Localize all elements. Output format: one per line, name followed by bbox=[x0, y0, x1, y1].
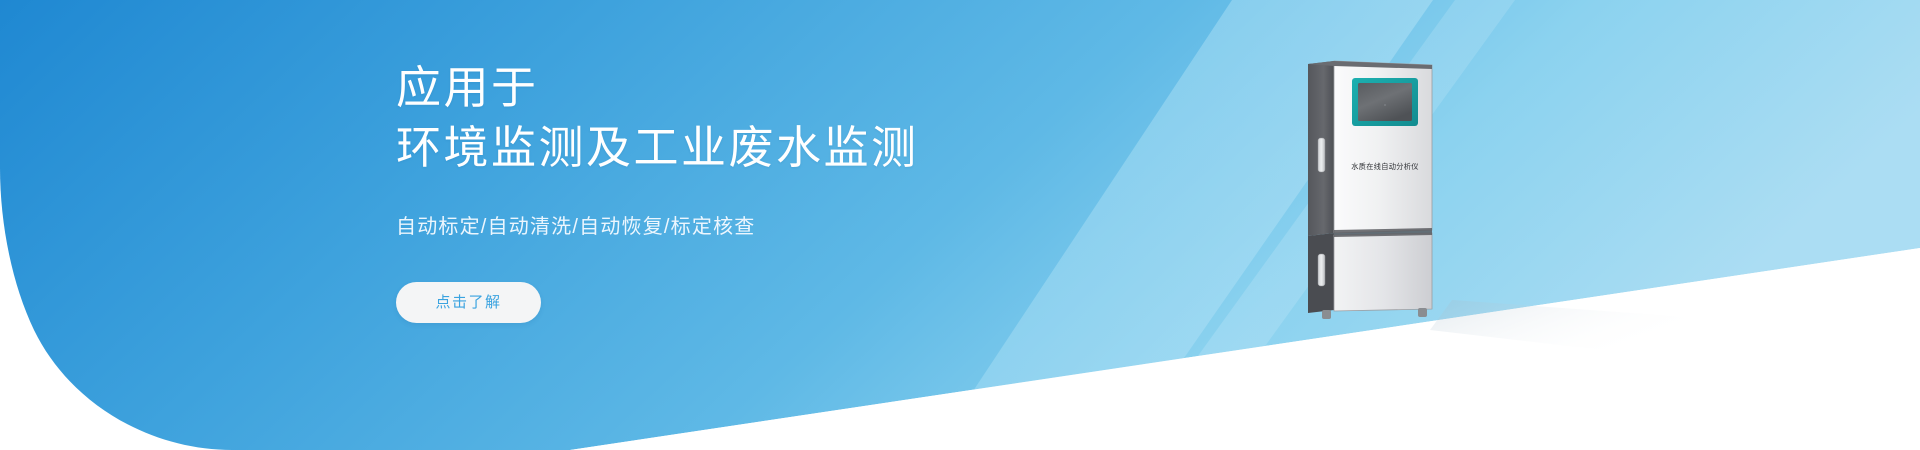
analyzer-screen bbox=[1358, 83, 1412, 121]
analyzer-lower-door bbox=[1334, 233, 1432, 311]
banner-content: 应用于 环境监测及工业废水监测 自动标定/自动清洗/自动恢复/标定核查 点击了解 bbox=[396, 58, 1156, 323]
banner-subtitle: 自动标定/自动清洗/自动恢复/标定核查 bbox=[396, 179, 1156, 242]
hero-banner: 应用于 环境监测及工业废水监测 自动标定/自动清洗/自动恢复/标定核查 点击了解 bbox=[0, 0, 1920, 450]
learn-more-button[interactable]: 点击了解 bbox=[396, 282, 541, 323]
banner-headline: 应用于 环境监测及工业废水监测 bbox=[396, 58, 1156, 179]
headline-line-1: 应用于 bbox=[396, 58, 1156, 118]
headline-line-2: 环境监测及工业废水监测 bbox=[396, 118, 1156, 178]
analyzer-screen-dot bbox=[1384, 104, 1386, 106]
analyzer-upper-handle bbox=[1318, 138, 1325, 172]
water-quality-analyzer-image: 水质在线自动分析仪 bbox=[1306, 58, 1456, 323]
analyzer-caster-left bbox=[1322, 310, 1331, 319]
analyzer-caster-right bbox=[1418, 308, 1427, 317]
analyzer-lower-handle bbox=[1318, 254, 1325, 286]
analyzer-illustration bbox=[1306, 58, 1456, 323]
